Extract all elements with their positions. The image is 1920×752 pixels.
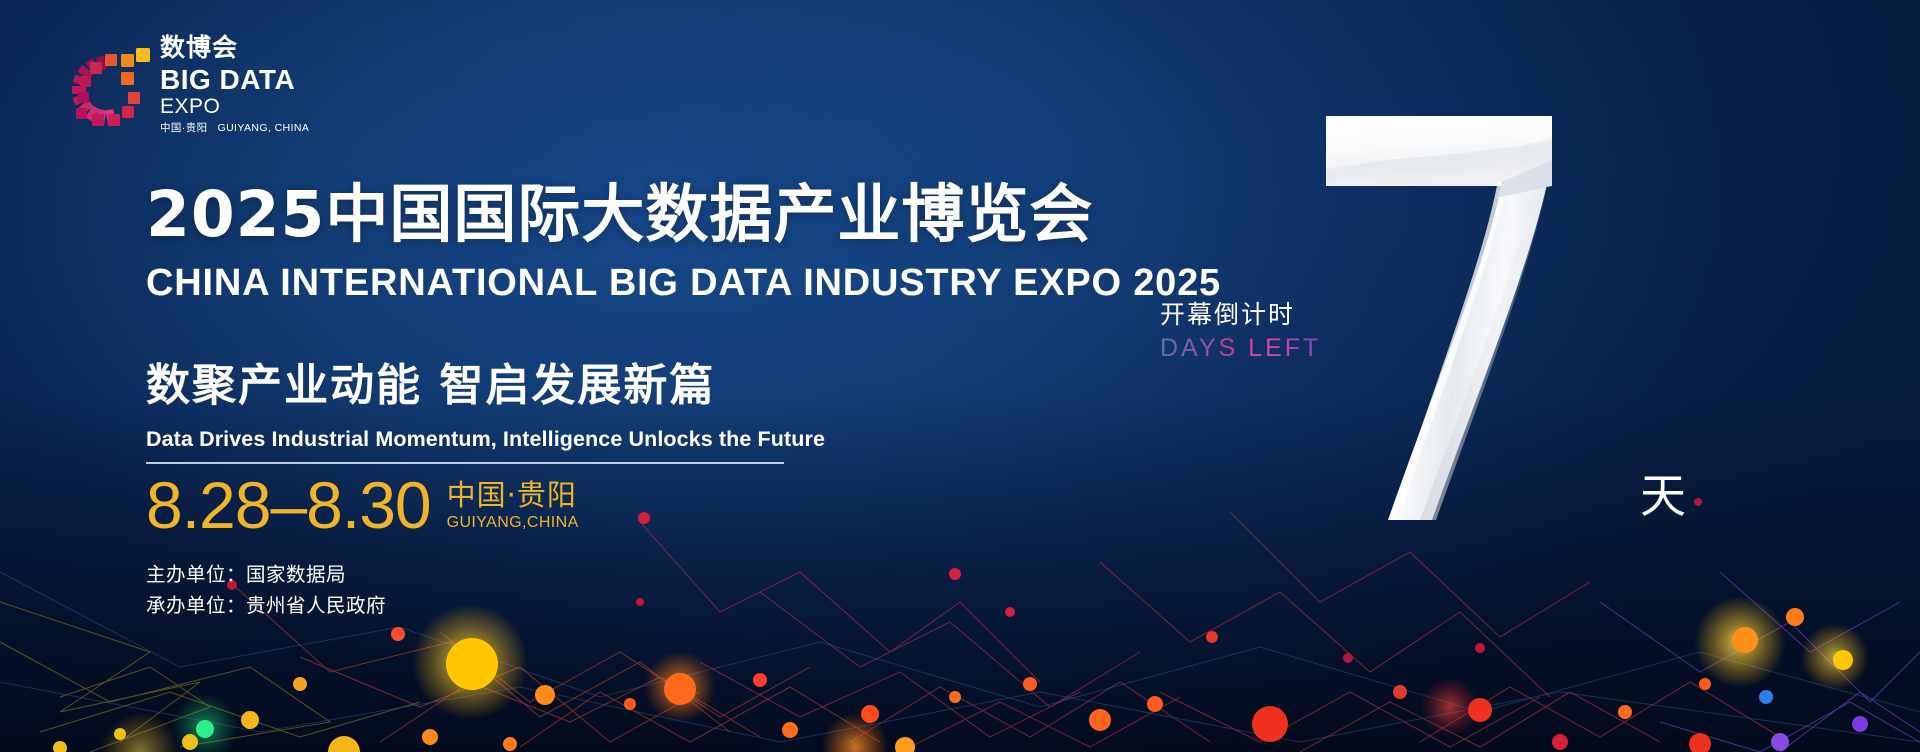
spiral-squares-logo-icon <box>56 38 156 138</box>
countdown-label-cn: 开幕倒计时 <box>1160 300 1321 330</box>
logo-name-cn: 数博会 <box>160 36 309 61</box>
event-date-range: 8.28–8.30 <box>146 472 431 538</box>
expo-banner: 数博会 BIG DATA EXPO 中国·贵阳GUIYANG, CHINA 20… <box>0 0 1920 752</box>
event-city-cn: 中国·贵阳 <box>447 480 579 512</box>
date-location-row: 8.28–8.30 中国·贵阳 GUIYANG,CHINA <box>146 472 1246 538</box>
divider-rule <box>146 462 784 464</box>
expo-logo[interactable]: 数博会 BIG DATA EXPO 中国·贵阳GUIYANG, CHINA <box>56 32 306 144</box>
organizer-coorganizer: 承办单位：贵州省人民政府 <box>146 591 1246 622</box>
event-city-en: GUIYANG,CHINA <box>447 514 579 532</box>
organizer-host: 主办单位：国家数据局 <box>146 560 1246 591</box>
event-city-block: 中国·贵阳 GUIYANG,CHINA <box>447 480 579 538</box>
page-title-en: CHINA INTERNATIONAL BIG DATA INDUSTRY EX… <box>146 262 1246 305</box>
logo-name-en-line1: BIG DATA <box>160 66 309 94</box>
logo-location-en: GUIYANG, CHINA <box>218 122 310 134</box>
logo-name-en-line2: EXPO <box>160 96 309 117</box>
page-title-cn: 2025中国国际大数据产业博览会 <box>146 182 1246 248</box>
organizer-list: 主办单位：国家数据局 承办单位：贵州省人民政府 <box>146 560 1246 622</box>
logo-wordmark: 数博会 BIG DATA EXPO 中国·贵阳GUIYANG, CHINA <box>160 36 309 134</box>
big-seven-3d-icon <box>1320 108 1610 528</box>
countdown-label-en: DAYS LEFT <box>1160 334 1321 363</box>
logo-location: 中国·贵阳GUIYANG, CHINA <box>160 123 309 134</box>
countdown-unit-cn: 天 <box>1640 460 1686 526</box>
slogan-cn: 数聚产业动能 智启发展新篇 <box>146 349 1246 413</box>
slogan-en: Data Drives Industrial Momentum, Intelli… <box>146 427 1246 452</box>
countdown-block: 开幕倒计时 DAYS LEFT 天 <box>1160 120 1800 570</box>
logo-location-cn: 中国·贵阳 <box>160 122 208 134</box>
countdown-labels: 开幕倒计时 DAYS LEFT <box>1160 300 1321 363</box>
main-copy-block: 2025中国国际大数据产业博览会 CHINA INTERNATIONAL BIG… <box>146 182 1246 622</box>
